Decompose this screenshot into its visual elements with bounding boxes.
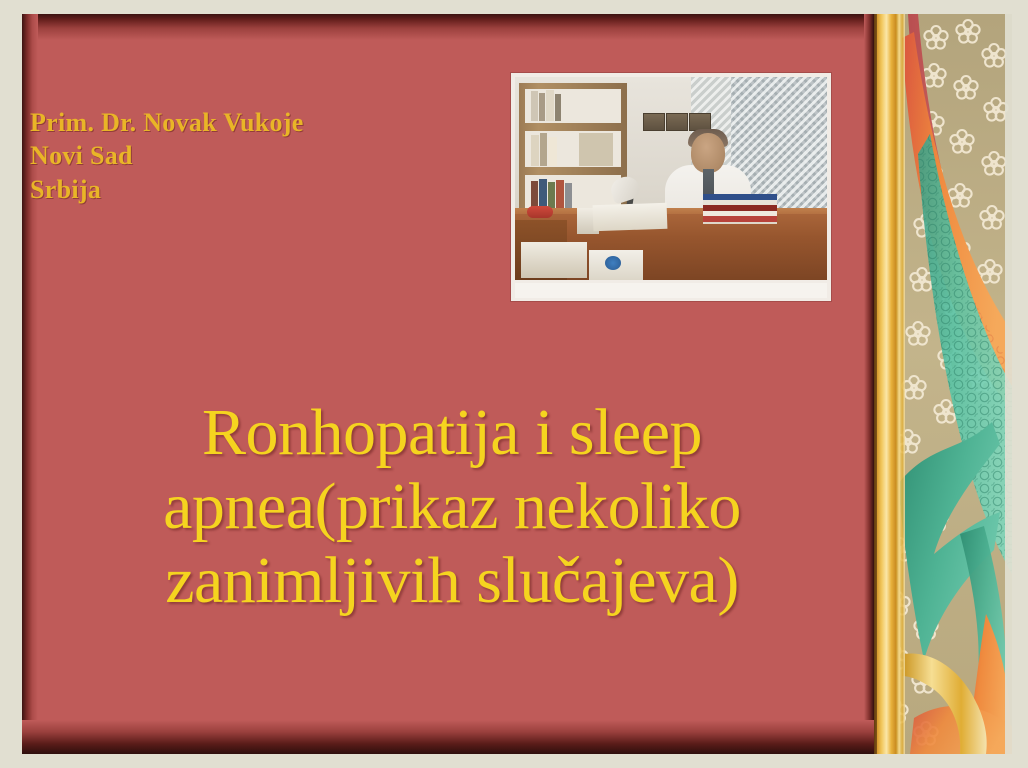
author-city: Novi Sad bbox=[30, 139, 460, 172]
title-line-2: apnea(prikaz nekoliko bbox=[52, 470, 852, 544]
panel-top-shadow bbox=[22, 14, 874, 40]
author-photo-frame bbox=[511, 73, 831, 301]
decorative-border-artwork bbox=[874, 14, 1012, 754]
photo-book bbox=[548, 137, 557, 166]
photo-shelf-items bbox=[579, 133, 613, 166]
panel-right-shadow bbox=[864, 14, 874, 754]
author-name: Prim. Dr. Novak Vukoje bbox=[30, 106, 460, 139]
photo-print-margin bbox=[515, 283, 827, 298]
author-photo bbox=[515, 77, 827, 280]
title-line-1: Ronhopatija i sleep bbox=[52, 396, 852, 470]
photo-papers bbox=[593, 203, 668, 232]
photo-blue-emblem bbox=[605, 256, 621, 270]
photo-wall-picture bbox=[666, 113, 688, 131]
photo-book bbox=[531, 91, 538, 121]
photo-book bbox=[555, 94, 561, 121]
author-block: Prim. Dr. Novak Vukoje Novi Sad Srbija bbox=[30, 106, 460, 206]
title-line-3: zanimljivih slučajeva) bbox=[52, 544, 852, 618]
slide-content-panel: Prim. Dr. Novak Vukoje Novi Sad Srbija bbox=[22, 14, 874, 754]
decorative-border bbox=[874, 14, 1012, 754]
panel-bottom-shadow bbox=[22, 720, 874, 754]
photo-book bbox=[546, 90, 554, 121]
right-page-margin bbox=[1012, 0, 1028, 768]
photo-desk-red-object bbox=[527, 206, 553, 218]
photo-desk-box bbox=[521, 242, 587, 278]
photo-person-head bbox=[691, 133, 725, 173]
photo-book bbox=[539, 93, 545, 121]
slide-title: Ronhopatija i sleep apnea(prikaz nekolik… bbox=[52, 396, 852, 618]
author-country: Srbija bbox=[30, 173, 460, 206]
photo-wall-picture bbox=[643, 113, 665, 131]
presentation-slide: Prim. Dr. Novak Vukoje Novi Sad Srbija bbox=[0, 0, 1028, 768]
photo-book-stack bbox=[703, 194, 777, 224]
photo-book bbox=[531, 135, 539, 166]
photo-book bbox=[540, 133, 547, 166]
